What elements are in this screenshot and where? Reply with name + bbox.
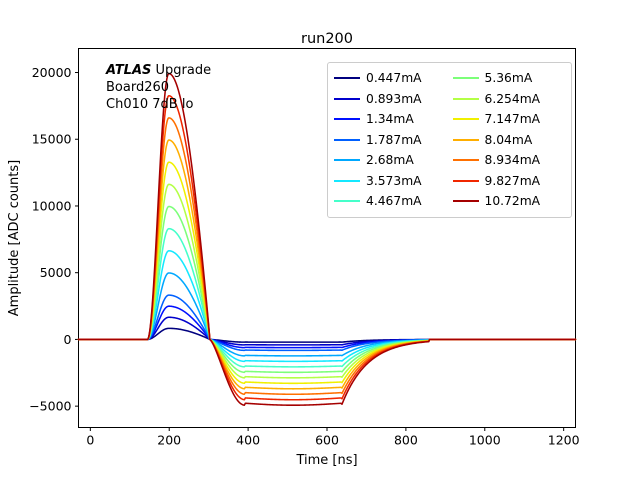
legend-entry[interactable]: 9.827mA (453, 171, 566, 192)
legend-entry[interactable]: 1.787mA (334, 130, 447, 151)
legend-entry[interactable]: 3.573mA (334, 171, 447, 192)
x-tick-label: 0 (86, 433, 94, 448)
x-tick-label: 400 (236, 433, 260, 448)
x-tick-label: 800 (394, 433, 418, 448)
legend-color-swatch (453, 200, 479, 202)
legend-color-swatch (334, 77, 360, 79)
legend-label: 9.827mA (485, 174, 541, 188)
legend-color-swatch (334, 98, 360, 100)
legend-color-swatch (453, 98, 479, 100)
legend-entry[interactable]: 8.934mA (453, 150, 566, 171)
legend-color-swatch (334, 118, 360, 120)
legend-label: 0.893mA (366, 92, 422, 106)
legend-column-left: 0.447mA0.893mA1.34mA1.787mA2.68mA3.573mA… (334, 68, 447, 212)
y-axis-ticks: −500005000100001500020000 (29, 65, 78, 414)
legend-column-right: 5.36mA6.254mA7.147mA8.04mA8.934mA9.827mA… (453, 68, 566, 212)
legend-entry[interactable]: 6.254mA (453, 89, 566, 110)
legend-color-swatch (334, 180, 360, 182)
legend-label: 8.04mA (485, 133, 533, 147)
legend-color-swatch (453, 180, 479, 182)
legend-label: 4.467mA (366, 194, 422, 208)
legend-label: 1.787mA (366, 133, 422, 147)
legend-color-swatch (453, 77, 479, 79)
y-tick-label: 20000 (32, 65, 72, 80)
legend-color-swatch (334, 159, 360, 161)
legend-label: 1.34mA (366, 112, 414, 126)
chart-title: run200 (301, 31, 353, 47)
y-axis-title: Amplitude [ADC counts] (7, 160, 22, 316)
legend-entry[interactable]: 5.36mA (453, 68, 566, 89)
legend-color-swatch (334, 200, 360, 202)
legend-entry[interactable]: 10.72mA (453, 191, 566, 212)
x-axis-ticks: 020040060080010001200 (86, 428, 579, 448)
legend-entry[interactable]: 8.04mA (453, 130, 566, 151)
legend-entry[interactable]: 7.147mA (453, 109, 566, 130)
legend-color-swatch (453, 159, 479, 161)
y-tick-label: 10000 (32, 198, 72, 213)
legend-color-swatch (334, 139, 360, 141)
x-tick-label: 600 (315, 433, 339, 448)
legend-entry[interactable]: 0.893mA (334, 89, 447, 110)
chart-legend: 0.447mA0.893mA1.34mA1.787mA2.68mA3.573mA… (327, 62, 572, 218)
y-tick-label: 5000 (40, 265, 72, 280)
legend-label: 7.147mA (485, 112, 541, 126)
legend-label: 10.72mA (485, 194, 541, 208)
legend-label: 5.36mA (485, 71, 533, 85)
legend-entry[interactable]: 2.68mA (334, 150, 447, 171)
legend-label: 6.254mA (485, 92, 541, 106)
x-tick-label: 200 (157, 433, 181, 448)
legend-entry[interactable]: 0.447mA (334, 68, 447, 89)
x-tick-label: 1200 (548, 433, 580, 448)
x-tick-label: 1000 (469, 433, 501, 448)
y-tick-label: 15000 (32, 132, 72, 147)
legend-label: 2.68mA (366, 153, 414, 167)
figure-canvas: run200 020040060080010001200 −5000050001… (0, 0, 640, 480)
legend-color-swatch (453, 118, 479, 120)
legend-label: 0.447mA (366, 71, 422, 85)
legend-label: 8.934mA (485, 153, 541, 167)
y-tick-label: 0 (64, 332, 72, 347)
y-tick-label: −5000 (29, 399, 71, 414)
legend-label: 3.573mA (366, 174, 422, 188)
x-axis-title: Time [ns] (295, 453, 357, 468)
legend-entry[interactable]: 1.34mA (334, 109, 447, 130)
legend-entry[interactable]: 4.467mA (334, 191, 447, 212)
legend-color-swatch (453, 139, 479, 141)
